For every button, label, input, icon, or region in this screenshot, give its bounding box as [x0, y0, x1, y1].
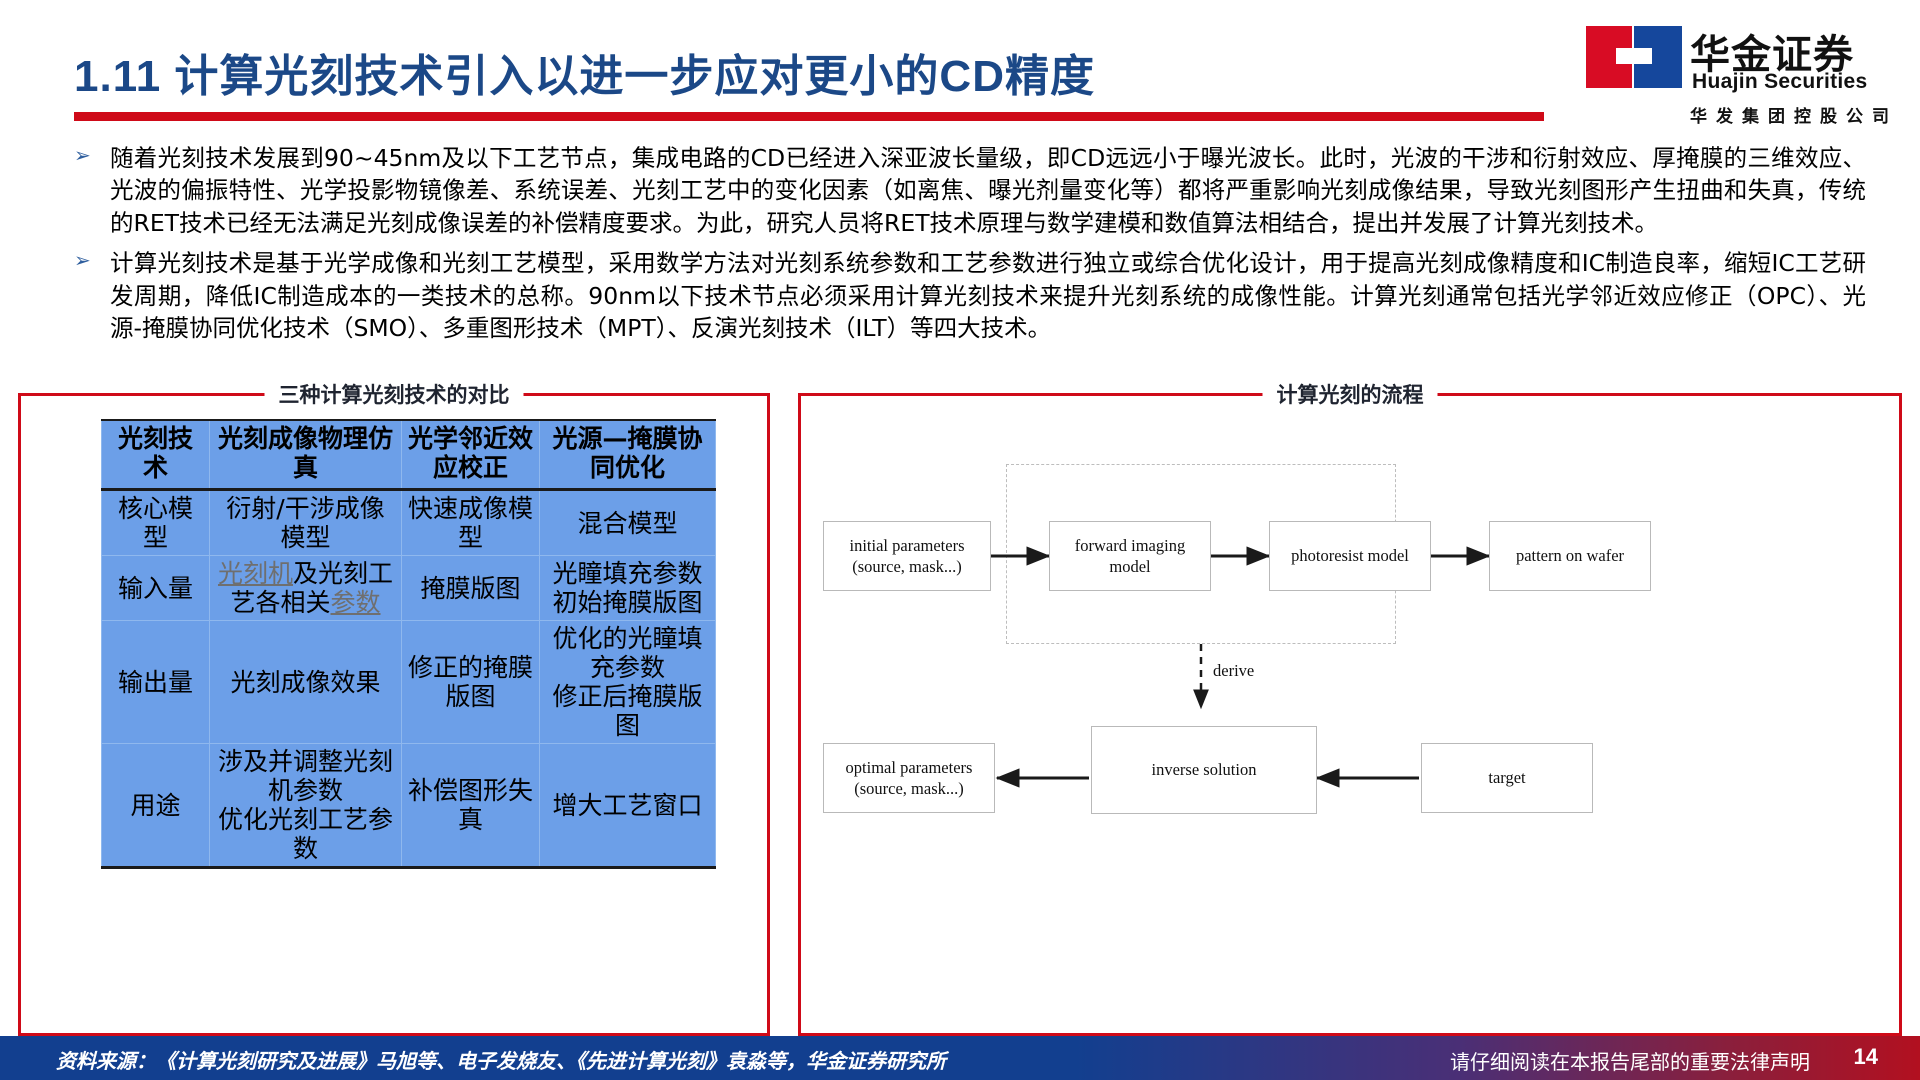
node-label: initial parameters (source, mask...) [850, 535, 965, 577]
table-row: 用途 涉及并调整光刻机参数 优化光刻工艺参数 补偿图形失真 增大工艺窗口 [102, 744, 716, 868]
node-label: pattern on wafer [1516, 545, 1624, 566]
table-row: 核心模型 衍射/干涉成像模型 快速成像模型 混合模型 [102, 490, 716, 556]
flow-arrows [801, 396, 1905, 1039]
title-underline-rule [74, 112, 1544, 121]
table-cell: 涉及并调整光刻机参数 优化光刻工艺参数 [210, 744, 402, 868]
bullet-text: 计算光刻技术是基于光学成像和光刻工艺模型，采用数学方法对光刻系统参数和工艺参数进… [110, 247, 1866, 344]
node-pattern-on-wafer: pattern on wafer [1489, 521, 1651, 591]
table-row: 输入量 光刻机及光刻工艺各相关参数 掩膜版图 光瞳填充参数 初始掩膜版图 [102, 556, 716, 621]
table-header-cell: 光刻成像物理仿真 [210, 420, 402, 490]
left-panel: 三种计算光刻技术的对比 光刻技术 光刻成像物理仿真 光学邻近效应校正 光源—掩膜… [18, 393, 770, 1036]
slide-root: 1.11 计算光刻技术引入以进一步应对更小的CD精度 华金证券 Huajin S… [0, 0, 1920, 1080]
logo-english-name: Huajin Securities [1692, 70, 1868, 94]
computational-lithography-flowchart: initial parameters (source, mask...) for… [801, 396, 1905, 1039]
node-inverse-solution: inverse solution [1091, 726, 1317, 814]
left-panel-title: 三种计算光刻技术的对比 [265, 379, 524, 409]
node-label: inverse solution [1152, 759, 1257, 780]
footer-bar: 资料来源：《计算光刻研究及进展》马旭等、电子发烧友、《先进计算光刻》袁淼等，华金… [0, 1036, 1920, 1080]
table-header-cell: 光学邻近效应校正 [402, 420, 540, 490]
footer-source-text: 资料来源：《计算光刻研究及进展》马旭等、电子发烧友、《先进计算光刻》袁淼等，华金… [56, 1045, 946, 1074]
node-initial-parameters: initial parameters (source, mask...) [823, 521, 991, 591]
table-header-cell: 光源—掩膜协同优化 [540, 420, 716, 490]
row-label: 输入量 [102, 556, 210, 621]
table-header-cell: 光刻技术 [102, 420, 210, 490]
link-parameters[interactable]: 参数 [331, 588, 381, 617]
row-label: 输出量 [102, 621, 210, 744]
logo-mark-icon [1586, 26, 1682, 88]
company-logo: 华金证券 Huajin Securities 华发集团控股公司 [1586, 22, 1906, 130]
node-forward-imaging-model: forward imaging model [1049, 521, 1211, 591]
link-lithography-machine[interactable]: 光刻机 [218, 559, 293, 588]
row-label: 核心模型 [102, 490, 210, 556]
table-cell: 修正的掩膜版图 [402, 621, 540, 744]
table-header-row: 光刻技术 光刻成像物理仿真 光学邻近效应校正 光源—掩膜协同优化 [102, 420, 716, 490]
bullet-arrow-icon: ➢ [74, 251, 91, 271]
footer-legal-note: 请仔细阅读在本报告尾部的重要法律声明 [1450, 1046, 1810, 1075]
table-cell: 衍射/干涉成像模型 [210, 490, 402, 556]
node-label: forward imaging model [1075, 535, 1185, 577]
bullet-item: ➢ 随着光刻技术发展到90~45nm及以下工艺节点，集成电路的CD已经进入深亚波… [66, 142, 1866, 239]
node-optimal-parameters: optimal parameters (source, mask...) [823, 743, 995, 813]
edge-label-derive: derive [1213, 661, 1254, 681]
table-cell: 优化的光瞳填充参数 修正后掩膜版图 [540, 621, 716, 744]
bullet-arrow-icon: ➢ [74, 146, 91, 166]
node-photoresist-model: photoresist model [1269, 521, 1431, 591]
node-label: target [1488, 767, 1525, 788]
row-label: 用途 [102, 744, 210, 868]
table-cell-with-links: 光刻机及光刻工艺各相关参数 [210, 556, 402, 621]
table-cell: 混合模型 [540, 490, 716, 556]
table-row: 输出量 光刻成像效果 修正的掩膜版图 优化的光瞳填充参数 修正后掩膜版图 [102, 621, 716, 744]
node-label: photoresist model [1291, 545, 1409, 566]
table-cell: 光刻成像效果 [210, 621, 402, 744]
logo-subtitle: 华发集团控股公司 [1690, 102, 1898, 127]
node-label: optimal parameters (source, mask...) [846, 757, 973, 799]
right-panel: 计算光刻的流程 initial parameters (source, mask… [798, 393, 1902, 1036]
bullet-item: ➢ 计算光刻技术是基于光学成像和光刻工艺模型，采用数学方法对光刻系统参数和工艺参… [66, 247, 1866, 344]
table-cell: 快速成像模型 [402, 490, 540, 556]
table-cell: 掩膜版图 [402, 556, 540, 621]
body-bullet-list: ➢ 随着光刻技术发展到90~45nm及以下工艺节点，集成电路的CD已经进入深亚波… [66, 142, 1866, 353]
page-number: 14 [1854, 1044, 1878, 1070]
table-cell: 补偿图形失真 [402, 744, 540, 868]
table-cell: 光瞳填充参数 初始掩膜版图 [540, 556, 716, 621]
page-title: 1.11 计算光刻技术引入以进一步应对更小的CD精度 [74, 40, 1095, 104]
comparison-table: 光刻技术 光刻成像物理仿真 光学邻近效应校正 光源—掩膜协同优化 核心模型 衍射… [101, 419, 716, 869]
table-cell: 增大工艺窗口 [540, 744, 716, 868]
bullet-text: 随着光刻技术发展到90~45nm及以下工艺节点，集成电路的CD已经进入深亚波长量… [110, 142, 1866, 239]
node-target: target [1421, 743, 1593, 813]
